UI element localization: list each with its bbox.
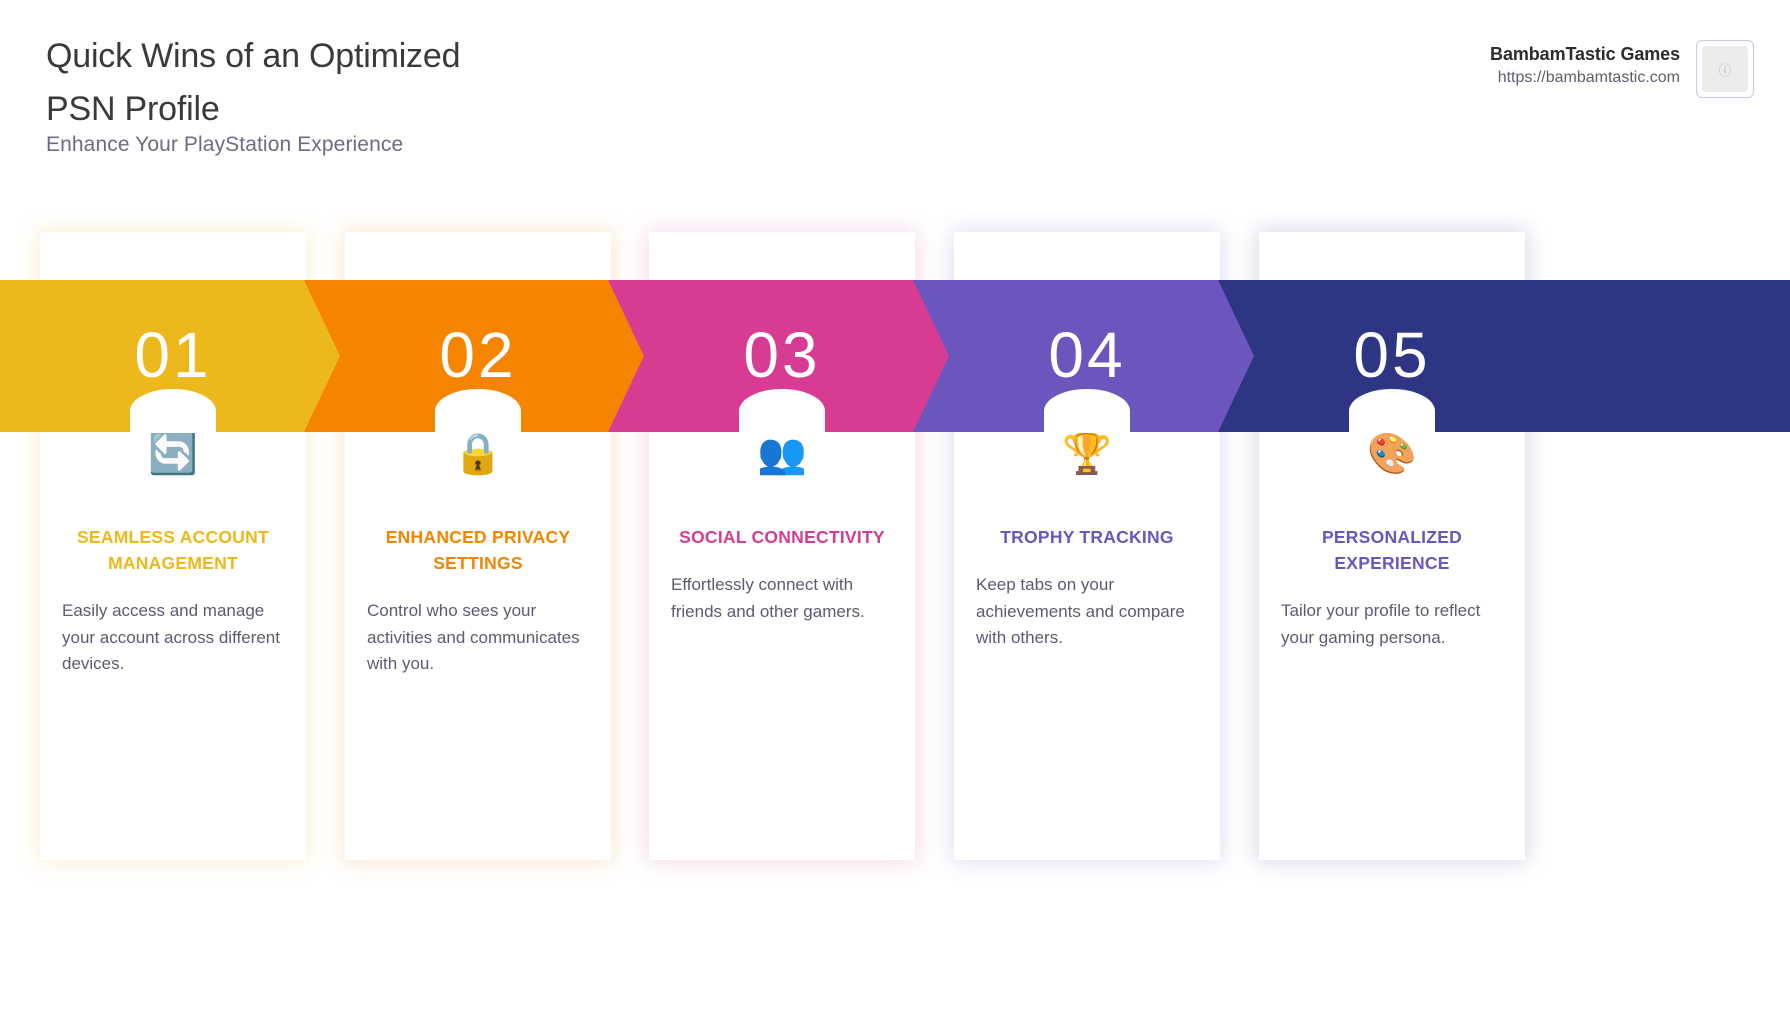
step-card-description: Tailor your profile to reflect your gami…: [1277, 598, 1507, 651]
step-card-description: Control who sees your activities and com…: [363, 598, 593, 678]
page-title-line-1: Quick Wins of an Optimized: [46, 30, 666, 83]
step-card[interactable]: 🔒Enhanced Privacy SettingsControl who se…: [345, 232, 611, 860]
step-card-title: Social Connectivity: [667, 524, 897, 550]
page-header: Quick Wins of an Optimized PSN Profile E…: [0, 0, 1790, 200]
page-subtitle: Enhance Your PlayStation Experience: [46, 133, 403, 157]
step-card-content: 🔒Enhanced Privacy SettingsControl who se…: [345, 428, 611, 678]
step-card[interactable]: 🔄Seamless Account ManagementEasily acces…: [40, 232, 306, 860]
infographic-page: Quick Wins of an Optimized PSN Profile E…: [0, 0, 1790, 1024]
brand-name: BambamTastic Games: [1490, 44, 1680, 65]
step-card-title: Trophy Tracking: [972, 524, 1202, 550]
page-title-line-2: PSN Profile: [46, 83, 666, 136]
busts-in-silhouette-icon: 👥: [667, 428, 897, 480]
step-card-title: Personalized Experience: [1277, 524, 1507, 576]
step-card-description: Easily access and manage your account ac…: [58, 598, 288, 678]
step-card[interactable]: 🏆Trophy TrackingKeep tabs on your achiev…: [954, 232, 1220, 860]
step-card[interactable]: 🎨Personalized ExperienceTailor your prof…: [1259, 232, 1525, 860]
brand-url[interactable]: https://bambamtastic.com: [1490, 69, 1680, 87]
page-title: Quick Wins of an Optimized PSN Profile: [46, 30, 666, 136]
step-card-title: Enhanced Privacy Settings: [363, 524, 593, 576]
step-card-content: 🏆Trophy TrackingKeep tabs on your achiev…: [954, 428, 1220, 652]
padlock-icon: 🔒: [363, 428, 593, 480]
brand-logo: ⓘ: [1696, 40, 1754, 98]
brand-text: BambamTastic Games https://bambamtastic.…: [1490, 40, 1680, 87]
step-card-content: 🎨Personalized ExperienceTailor your prof…: [1259, 428, 1525, 651]
step-card-description: Keep tabs on your achievements and compa…: [972, 572, 1202, 652]
artist-palette-icon: 🎨: [1277, 428, 1507, 480]
step-card-content: 👥Social ConnectivityEffortlessly connect…: [649, 428, 915, 625]
step-card-content: 🔄Seamless Account ManagementEasily acces…: [40, 428, 306, 678]
step-card[interactable]: 👥Social ConnectivityEffortlessly connect…: [649, 232, 915, 860]
step-card-description: Effortlessly connect with friends and ot…: [667, 572, 897, 625]
refresh-arrows-icon: 🔄: [58, 428, 288, 480]
cards-layer: 🔄Seamless Account ManagementEasily acces…: [0, 232, 1790, 862]
trophy-icon: 🏆: [972, 428, 1202, 480]
brand-block: BambamTastic Games https://bambamtastic.…: [1490, 40, 1754, 98]
logo-placeholder-icon: ⓘ: [1702, 46, 1748, 92]
step-card-title: Seamless Account Management: [58, 524, 288, 576]
